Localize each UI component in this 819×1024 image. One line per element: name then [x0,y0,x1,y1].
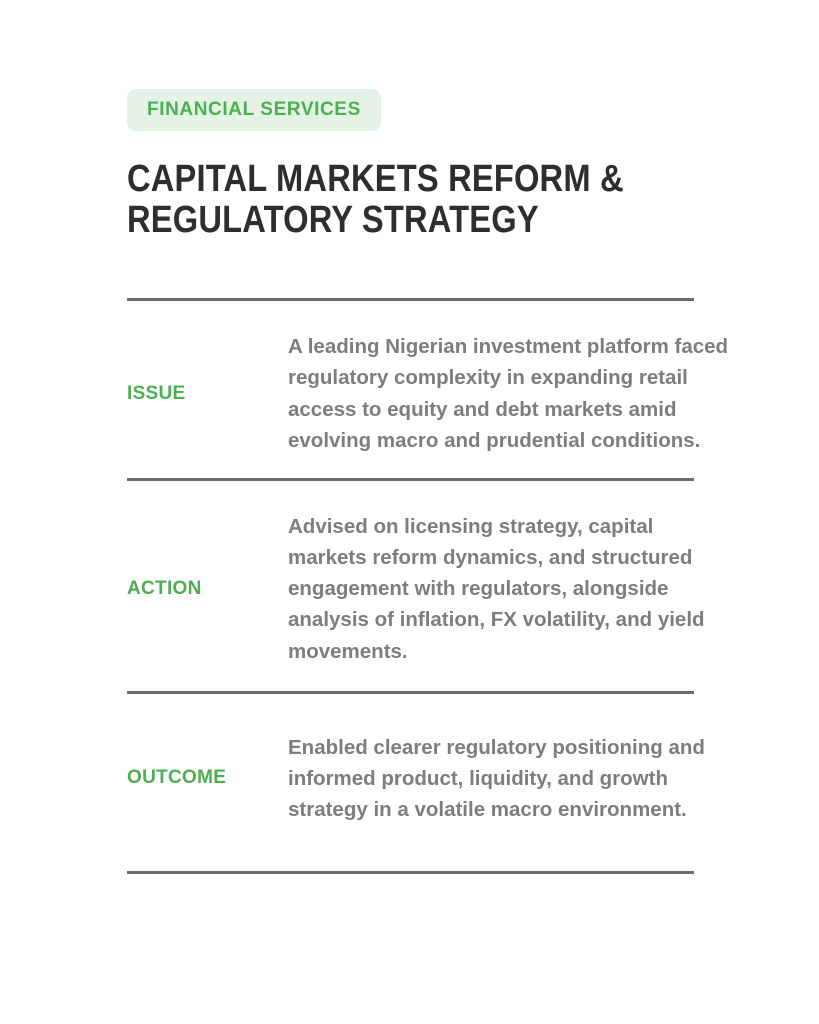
case-study-card: FINANCIAL SERVICES CAPITAL MARKETS REFOR… [0,0,819,1024]
row-label-action: ACTION [127,578,288,600]
row-body-action: Advised on licensing strategy, capital m… [288,511,731,667]
row-label-outcome: OUTCOME [127,767,288,789]
detail-table: ISSUE A leading Nigerian investment plat… [127,298,694,874]
divider-bottom [127,871,694,874]
row-body-issue: A leading Nigerian investment platform f… [288,331,731,456]
table-row: OUTCOME Enabled clearer regulatory posit… [127,694,731,871]
table-row: ACTION Advised on licensing strategy, ca… [127,481,731,691]
page-title: CAPITAL MARKETS REFORM & REGULATORY STRA… [127,159,765,240]
table-row: ISSUE A leading Nigerian investment plat… [127,301,731,478]
category-badge-row: FINANCIAL SERVICES [127,89,767,131]
row-body-outcome: Enabled clearer regulatory positioning a… [288,732,731,825]
row-label-issue: ISSUE [127,383,288,405]
category-badge: FINANCIAL SERVICES [127,89,381,131]
card-content: FINANCIAL SERVICES CAPITAL MARKETS REFOR… [127,89,767,874]
